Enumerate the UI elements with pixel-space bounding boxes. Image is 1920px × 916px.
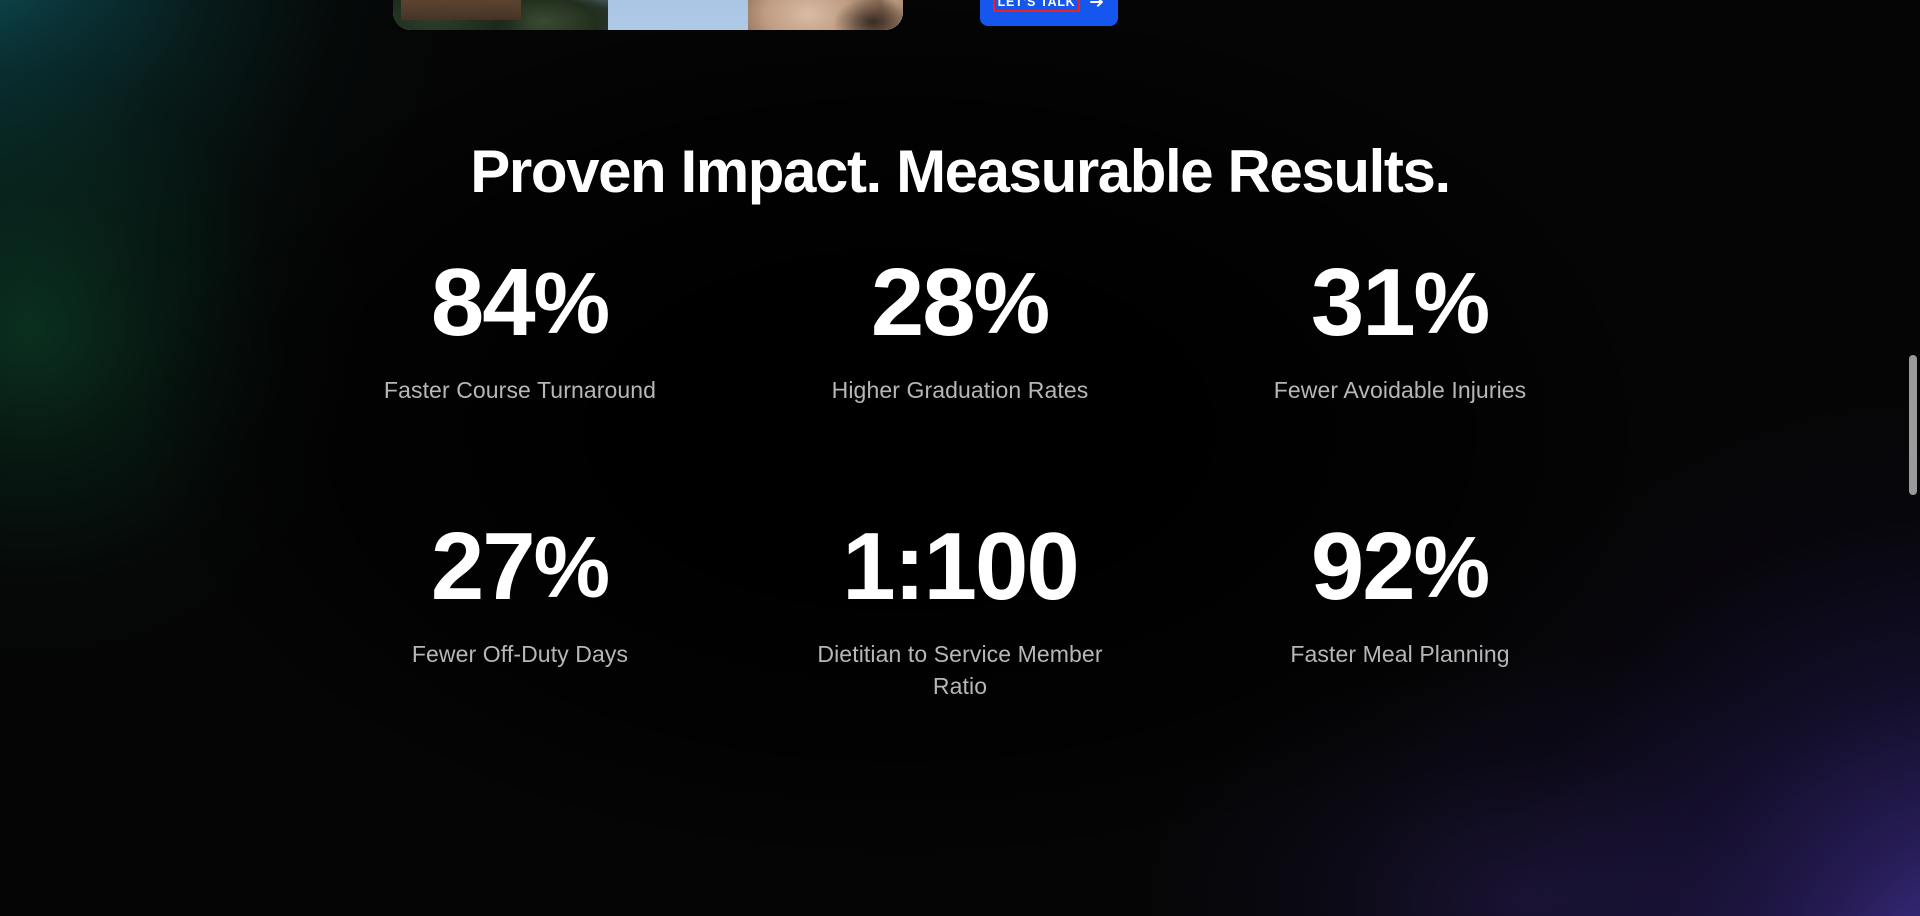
- hero-photo-beam: [401, 0, 521, 20]
- stat-item-fewer-avoidable-injuries: 31% Fewer Avoidable Injuries: [1180, 255, 1620, 407]
- stat-label: Dietitian to Service Member Ratio: [810, 638, 1110, 703]
- arrow-right-icon: [1089, 0, 1105, 10]
- stat-label: Faster Meal Planning: [1225, 638, 1575, 671]
- section-heading: Proven Impact. Measurable Results.: [0, 140, 1920, 204]
- lets-talk-button[interactable]: LET'S TALK: [980, 0, 1118, 26]
- stat-item-higher-graduation-rates: 28% Higher Graduation Rates: [740, 255, 1180, 407]
- stat-number: 28: [871, 249, 974, 356]
- hero-photo: [393, 0, 903, 30]
- stat-item-faster-meal-planning: 92% Faster Meal Planning: [1180, 519, 1620, 703]
- stat-unit: %: [974, 256, 1049, 352]
- stat-unit: %: [534, 520, 609, 616]
- page-scrollbar-thumb[interactable]: [1909, 355, 1917, 495]
- stat-unit: %: [1414, 520, 1489, 616]
- stat-unit: %: [534, 256, 609, 352]
- stat-number: 31: [1311, 249, 1414, 356]
- stat-item-faster-course-turnaround: 84% Faster Course Turnaround: [300, 255, 740, 407]
- stat-value: 92%: [1204, 519, 1596, 615]
- page-root: LET'S TALK Proven Impact. Measurable Res…: [0, 0, 1920, 916]
- stat-label: Fewer Off-Duty Days: [345, 638, 695, 671]
- stat-label: Faster Course Turnaround: [345, 374, 695, 407]
- stat-value: 1:100: [764, 519, 1156, 615]
- stat-unit: %: [1414, 256, 1489, 352]
- stat-value: 31%: [1204, 255, 1596, 351]
- hero-strip: LET'S TALK: [0, 0, 1920, 30]
- stat-number: 1:100: [842, 513, 1078, 620]
- stat-value: 27%: [324, 519, 716, 615]
- stat-number: 84: [431, 249, 534, 356]
- stat-item-dietitian-ratio: 1:100 Dietitian to Service Member Ratio: [740, 519, 1180, 703]
- lets-talk-highlight-box: LET'S TALK: [993, 0, 1081, 12]
- page-content: LET'S TALK Proven Impact. Measurable Res…: [0, 0, 1920, 916]
- hero-photo-figure-shadow: [833, 0, 903, 30]
- stat-number: 27: [431, 513, 534, 620]
- stat-value: 84%: [324, 255, 716, 351]
- stats-grid: 84% Faster Course Turnaround 28% Higher …: [300, 255, 1620, 703]
- lets-talk-label: LET'S TALK: [998, 0, 1076, 9]
- stat-item-fewer-off-duty-days: 27% Fewer Off-Duty Days: [300, 519, 740, 703]
- stat-label: Fewer Avoidable Injuries: [1225, 374, 1575, 407]
- stat-value: 28%: [764, 255, 1156, 351]
- stat-number: 92: [1311, 513, 1414, 620]
- stat-label: Higher Graduation Rates: [785, 374, 1135, 407]
